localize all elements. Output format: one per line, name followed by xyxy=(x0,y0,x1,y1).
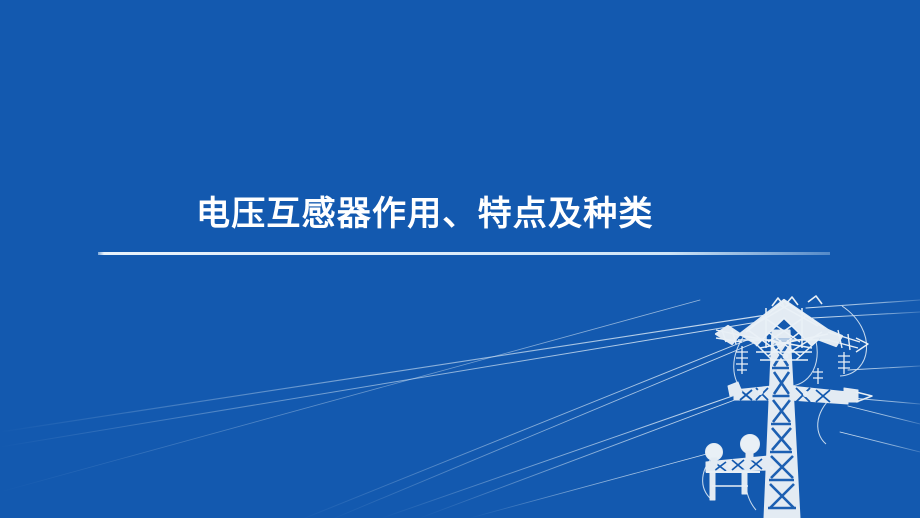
title-block: 电压互感器作用、特点及种类 xyxy=(0,190,920,262)
page-title: 电压互感器作用、特点及种类 xyxy=(196,190,654,238)
tower-head-truss xyxy=(716,300,842,346)
post-insulators xyxy=(706,435,760,467)
head-lattice xyxy=(738,301,830,360)
tower-hardware xyxy=(728,353,809,471)
tower-mast xyxy=(764,330,800,518)
head-left-arm xyxy=(716,330,744,344)
jumper-loops xyxy=(703,306,867,510)
lower-cross-arm xyxy=(706,456,768,500)
middle-cross-arm xyxy=(728,382,872,404)
power-lines-left xyxy=(0,300,786,518)
presentation-slide: 电压互感器作用、特点及种类 xyxy=(0,0,920,518)
head-right-arm xyxy=(828,330,868,352)
title-underline-rule xyxy=(98,252,830,255)
power-lines-right xyxy=(806,300,920,452)
insulator-strings xyxy=(736,346,850,384)
tower-structure xyxy=(706,296,873,518)
